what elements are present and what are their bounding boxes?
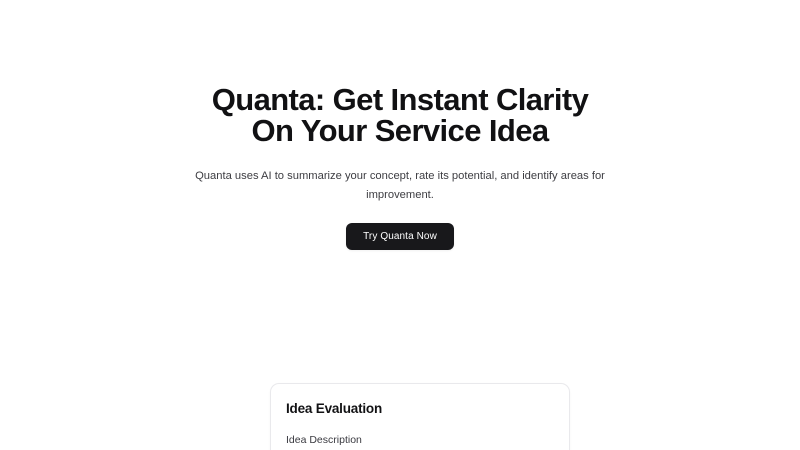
idea-description-label: Idea Description (286, 433, 554, 447)
page-title-line-1: Quanta: Get Instant Clarity (165, 84, 635, 115)
hero-section: Quanta: Get Instant Clarity On Your Serv… (0, 0, 800, 250)
page-title: Quanta: Get Instant Clarity On Your Serv… (165, 84, 635, 146)
page-title-line-2: On Your Service Idea (165, 115, 635, 146)
cta-container: Try Quanta Now (0, 223, 800, 250)
try-quanta-now-button[interactable]: Try Quanta Now (346, 223, 454, 250)
hero-subtitle: Quanta uses AI to summarize your concept… (184, 167, 616, 205)
landing-page: Quanta: Get Instant Clarity On Your Serv… (0, 0, 800, 450)
idea-evaluation-heading: Idea Evaluation (286, 400, 554, 418)
idea-evaluation-card: Idea Evaluation Idea Description (270, 383, 570, 450)
